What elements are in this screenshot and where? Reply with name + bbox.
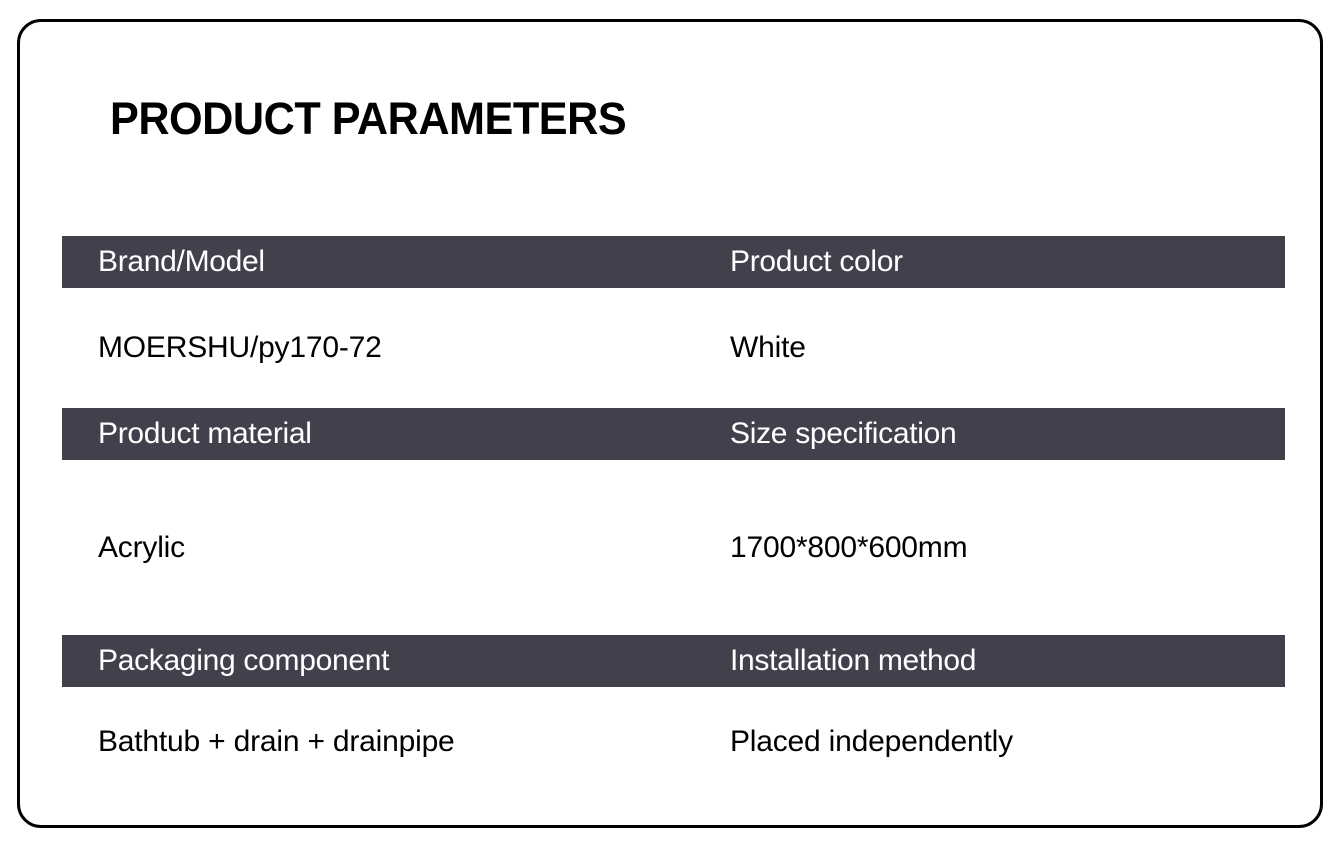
- page-title: PRODUCT PARAMETERS: [110, 96, 626, 141]
- column-header-label: Installation method: [730, 635, 976, 687]
- parameter-group: Packaging component Installation method …: [62, 635, 1285, 797]
- column-header-label: Product material: [98, 408, 312, 460]
- column-header-label: Brand/Model: [98, 236, 265, 288]
- table-header-row: Product material Size specification: [62, 408, 1285, 460]
- table-header-row: Brand/Model Product color: [62, 236, 1285, 288]
- parameter-group: Brand/Model Product color MOERSHU/py170-…: [62, 236, 1285, 408]
- table-value-row: MOERSHU/py170-72 White: [62, 288, 1285, 408]
- table-header-row: Packaging component Installation method: [62, 635, 1285, 687]
- value-cell: White: [730, 288, 806, 408]
- parameter-group: Product material Size specification Acry…: [62, 408, 1285, 635]
- value-cell: Bathtub + drain + drainpipe: [98, 687, 455, 797]
- table-value-row: Bathtub + drain + drainpipe Placed indep…: [62, 687, 1285, 797]
- value-cell: Placed independently: [730, 687, 1013, 797]
- value-cell: 1700*800*600mm: [730, 460, 967, 635]
- column-header-label: Packaging component: [98, 635, 389, 687]
- value-cell: Acrylic: [98, 460, 185, 635]
- column-header-label: Size specification: [730, 408, 956, 460]
- value-cell: MOERSHU/py170-72: [98, 288, 382, 408]
- product-parameters-page: PRODUCT PARAMETERS Brand/Model Product c…: [0, 0, 1340, 855]
- column-header-label: Product color: [730, 236, 903, 288]
- table-value-row: Acrylic 1700*800*600mm: [62, 460, 1285, 635]
- product-parameters-table: Brand/Model Product color MOERSHU/py170-…: [62, 236, 1285, 797]
